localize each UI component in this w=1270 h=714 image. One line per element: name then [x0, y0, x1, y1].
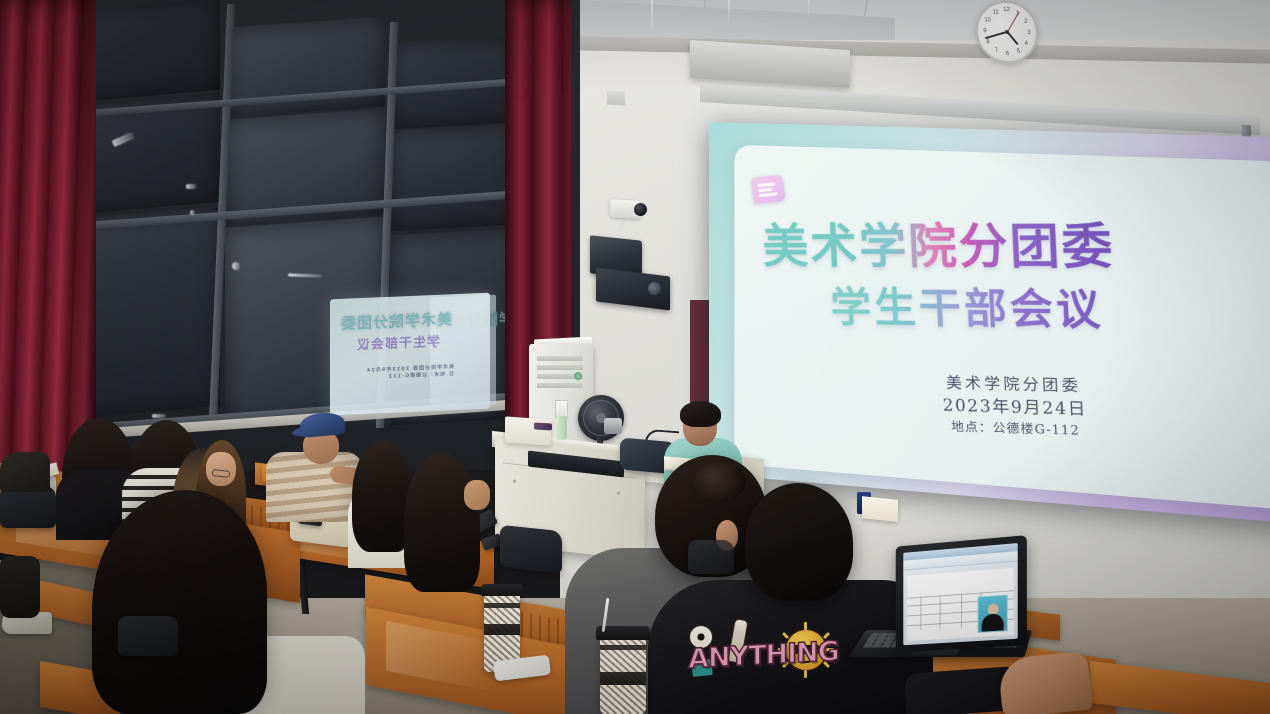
clock-second-hand	[1007, 11, 1020, 32]
hair-bun	[690, 462, 746, 502]
clock-numeral: 12	[1003, 7, 1010, 13]
clock-numeral: 8	[986, 39, 989, 45]
person-teal-shirt-hair	[680, 401, 721, 427]
cup-sleeve-band	[484, 624, 520, 635]
window-glint	[232, 262, 240, 270]
clock-numeral: 3	[1027, 30, 1030, 36]
student-arm	[0, 452, 50, 492]
foreground-person-b-hair	[745, 483, 853, 601]
ceiling-wire	[728, 0, 730, 26]
speech-bubble-sticker-icon	[751, 174, 786, 203]
camera-lens-icon	[634, 203, 647, 216]
hand-sanitizer-bottle	[556, 416, 567, 440]
clock-numeral: 6	[1006, 51, 1009, 57]
clock-face: 12 1 2 3 4 5 6 7 8 9 10 11	[977, 2, 1036, 62]
cup-sleeve-band	[600, 672, 646, 685]
tshirt-text: ANYTHING	[688, 636, 839, 675]
slide-subtitle-block: 美术学院分团委 2023年9月24日 地点：公德楼G-112	[886, 371, 1147, 442]
student-face	[464, 480, 490, 510]
bag-on-bench	[688, 540, 734, 574]
papers-on-desk	[862, 496, 898, 522]
window-glint	[190, 210, 195, 215]
laptop-screen[interactable]	[903, 543, 1017, 645]
clock-numeral: 5	[1017, 48, 1020, 54]
ceiling-wire	[808, 0, 810, 18]
bag-under-desk	[500, 525, 562, 574]
clock-numeral: 4	[1025, 41, 1028, 47]
slide-title-line-2: 学生干部会议	[829, 274, 1105, 337]
clock-numeral: 7	[995, 48, 998, 54]
window-glint	[186, 184, 196, 189]
student-hair	[404, 452, 480, 592]
podium-equipment-box	[505, 416, 551, 445]
projection-screen: 美术学院分团委 学生干部会议 美术学院分团委 2023年9月24日 地点：公德楼…	[709, 122, 1270, 524]
reflection-subtitle: 美术学院分团委 2023年9月24日 地点：公德楼G-112	[364, 364, 454, 382]
clock-minute-hand	[985, 31, 1007, 39]
bag-on-floor	[118, 616, 178, 656]
id-photo	[978, 595, 1008, 633]
clock-center-pin	[1005, 30, 1009, 34]
clock-numeral: 9	[983, 28, 986, 34]
speaker-knob	[648, 282, 661, 295]
window-pane	[390, 125, 520, 232]
clock-numeral: 11	[992, 9, 998, 15]
clock-numeral: 2	[1024, 19, 1027, 25]
wall-clock: 12 1 2 3 4 5 6 7 8 9 10 11	[975, 0, 1038, 64]
reflection-title-2: 学生干部会议	[356, 331, 440, 354]
window-glint	[152, 414, 166, 418]
window-reflection-slide: 美术学院分团委 学生干部会议 美术学院分团委 2023年9月24日 地点：公德楼…	[330, 293, 490, 416]
classroom-photo-scene: 美术学院分团委 美术学院分团委 学生干部会议 美术学院分团委 2023年9月24…	[0, 0, 1270, 714]
slide-title-line-1: 美术学院分团委	[761, 208, 1116, 278]
wall-outlet-plate	[607, 91, 625, 106]
podium-item	[534, 423, 552, 431]
clock-numeral: 10	[984, 17, 991, 23]
backpack	[0, 486, 56, 528]
cup-lid	[481, 584, 523, 596]
ac-indicator-light	[574, 372, 582, 380]
document-sheet	[907, 568, 1014, 641]
laptop-lid	[896, 535, 1027, 652]
fan-motor	[604, 418, 622, 434]
person-leg	[0, 556, 40, 618]
tshirt-graphic: ANYTHING	[688, 618, 853, 688]
